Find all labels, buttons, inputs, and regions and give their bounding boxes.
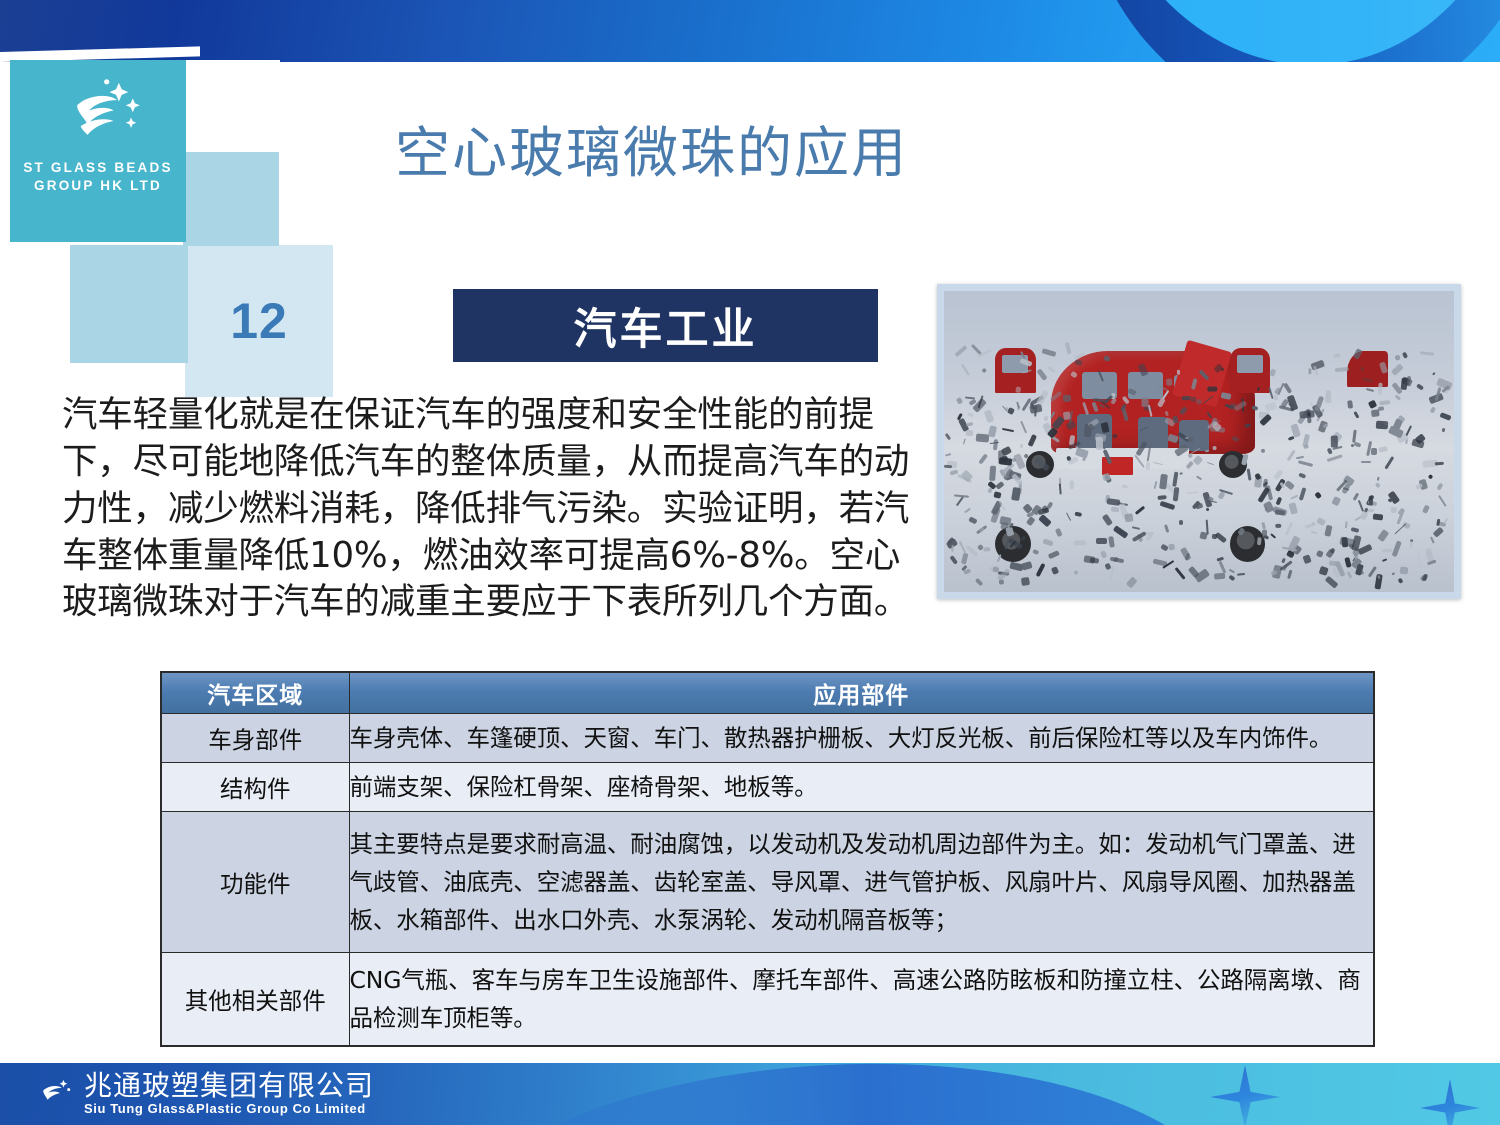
table-header-row: 汽车区域 应用部件 — [161, 672, 1374, 714]
crescent-swirl-sparkle-logo-icon — [54, 74, 142, 154]
car-parts-photo — [937, 284, 1461, 599]
footer-company-name-en: Siu Tung Glass&Plastic Group Co Limited — [84, 1102, 374, 1116]
table-row: 车身部件 车身壳体、车篷硬顶、天窗、车门、散热器护栅板、大灯反光板、前后保险杠等… — [161, 714, 1374, 763]
logo-text-line1: ST GLASS BEADS — [23, 159, 172, 177]
car-door-right — [1230, 348, 1271, 393]
table-row: 结构件 前端支架、保险杠骨架、座椅骨架、地板等。 — [161, 763, 1374, 812]
footer-company-name-cn: 兆通玻塑集团有限公司 — [84, 1071, 374, 1100]
decor-square-blue-1 — [183, 152, 279, 246]
footer-banner: 兆通玻塑集团有限公司 Siu Tung Glass&Plastic Group … — [0, 1063, 1500, 1125]
company-logo: ST GLASS BEADS GROUP HK LTD — [10, 60, 186, 242]
column-header-parts: 应用部件 — [349, 672, 1374, 714]
footer-arc-icon — [426, 1063, 1234, 1125]
decor-square-white — [183, 60, 280, 157]
footer-company-logo: 兆通玻塑集团有限公司 Siu Tung Glass&Plastic Group … — [30, 1071, 374, 1117]
cell-parts: 车身壳体、车篷硬顶、天窗、车门、散热器护栅板、大灯反光板、前后保险杠等以及车内饰… — [349, 714, 1374, 763]
logo-text-line2: GROUP HK LTD — [34, 177, 162, 195]
application-parts-table: 汽车区域 应用部件 车身部件 车身壳体、车篷硬顶、天窗、车门、散热器护栅板、大灯… — [160, 671, 1375, 1047]
car-parts-photo-inner — [944, 291, 1454, 592]
crescent-swirl-logo-icon — [30, 1072, 74, 1116]
column-header-area: 汽车区域 — [161, 672, 349, 714]
cell-parts: 前端支架、保险杠骨架、座椅骨架、地板等。 — [349, 763, 1374, 812]
page-title: 空心玻璃微珠的应用 — [395, 108, 908, 188]
decor-square-blue-2 — [70, 245, 188, 363]
cell-parts: 其主要特点是要求耐高温、耐油腐蚀，以发动机及发动机周边部件为主。如：发动机气门罩… — [349, 812, 1374, 953]
cell-parts: CNG气瓶、客车与房车卫生设施部件、摩托车部件、高速公路防眩板和防撞立柱、公路隔… — [349, 953, 1374, 1047]
footer-sparkle-icon-1 — [1210, 1065, 1280, 1125]
cell-area: 结构件 — [161, 763, 349, 812]
cell-area: 车身部件 — [161, 714, 349, 763]
section-banner: 汽车工业 — [453, 289, 878, 362]
table-row: 功能件 其主要特点是要求耐高温、耐油腐蚀，以发动机及发动机周边部件为主。如：发动… — [161, 812, 1374, 953]
cell-area: 其他相关部件 — [161, 953, 349, 1047]
slide-number-badge: 12 — [185, 245, 333, 397]
section-banner-label: 汽车工业 — [574, 295, 758, 357]
cell-area: 功能件 — [161, 812, 349, 953]
footer-sparkle-icon-2 — [1420, 1079, 1480, 1125]
header-banner — [0, 0, 1500, 62]
body-paragraph: 汽车轻量化就是在保证汽车的强度和安全性能的前提下，尽可能地降低汽车的整体质量，从… — [62, 392, 928, 626]
table-row: 其他相关部件 CNG气瓶、客车与房车卫生设施部件、摩托车部件、高速公路防眩板和防… — [161, 953, 1374, 1047]
